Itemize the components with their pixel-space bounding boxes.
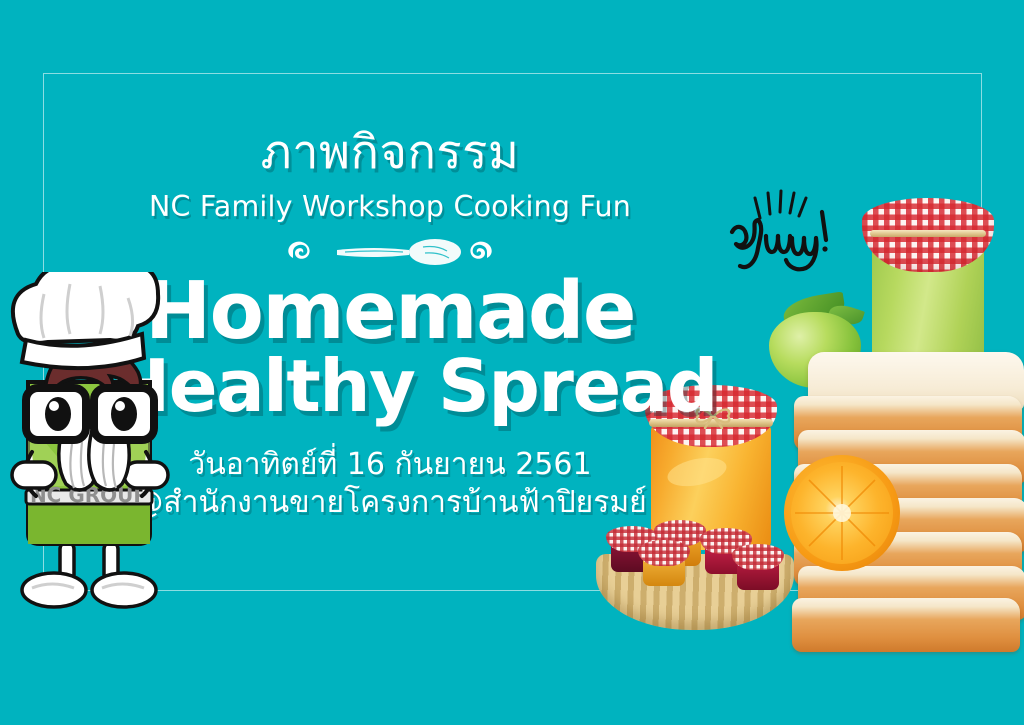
mini-jam-jar — [638, 540, 690, 586]
orange-half-image — [784, 455, 900, 571]
headline-line-2: Healthy Spread — [110, 350, 670, 423]
bread-slice — [792, 598, 1020, 652]
spoon-divider-icon — [275, 235, 505, 269]
wicker-basket-image — [596, 518, 794, 630]
event-details: วันอาทิตย์ที่ 16 กันยายน 2561 @สำนักงานข… — [110, 446, 670, 523]
promotional-banner: NC GROUP — [0, 0, 1024, 725]
main-headline: Homemade Healthy Spread — [110, 273, 670, 424]
thai-kicker-heading: ภาพกิจกรรม — [110, 128, 670, 177]
mascot-chef-hat — [13, 272, 158, 368]
english-subtitle: NC Family Workshop Cooking Fun — [110, 191, 670, 222]
event-date: วันอาทิตย์ที่ 16 กันยายน 2561 — [110, 446, 670, 484]
nc-group-chef-mascot: NC GROUP — [0, 272, 192, 617]
orange-segments-icon — [791, 462, 893, 564]
event-venue: @สำนักงานขายโครงการบ้านฟ้าปิยรมย์ — [110, 484, 670, 522]
green-jar-twine — [870, 230, 986, 237]
mini-jar-gingham-lid — [732, 544, 784, 570]
headline-text-block: ภาพกิจกรรม NC Family Workshop Cooking Fu… — [110, 128, 670, 522]
mascot-legs — [22, 542, 156, 607]
headline-line-1: Homemade — [110, 273, 670, 350]
mini-jar-gingham-lid — [638, 540, 690, 566]
mini-jam-jar — [732, 544, 784, 590]
yummy-badge-icon — [722, 182, 850, 286]
